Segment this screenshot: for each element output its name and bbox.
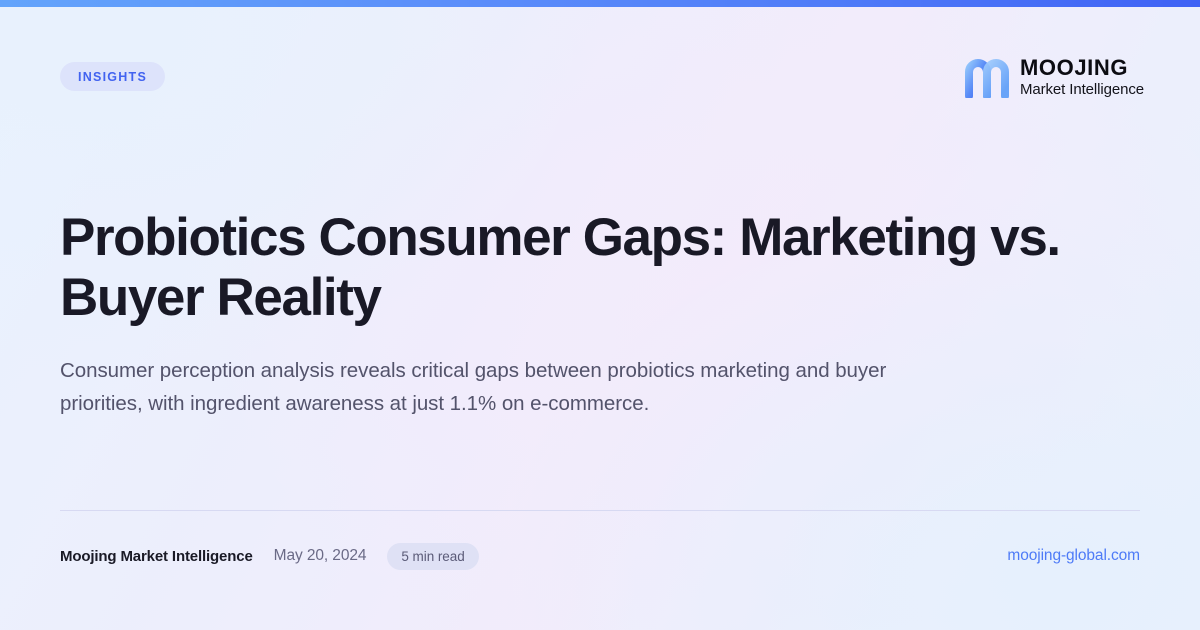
read-time-badge: 5 min read <box>387 543 478 570</box>
footer-divider <box>60 510 1140 511</box>
footer-meta-group: Moojing Market Intelligence May 20, 2024… <box>60 543 479 570</box>
brand-tagline: Market Intelligence <box>1020 81 1144 98</box>
card-footer: Moojing Market Intelligence May 20, 2024… <box>60 540 1140 572</box>
moojing-m-logo-icon <box>965 56 1009 98</box>
page-title: Probiotics Consumer Gaps: Marketing vs. … <box>60 208 1140 328</box>
category-badge[interactable]: INSIGHTS <box>60 62 165 91</box>
brand-lockup[interactable]: MOOJING Market Intelligence <box>965 55 1144 98</box>
brand-text-block: MOOJING Market Intelligence <box>1020 55 1144 98</box>
top-accent-bar <box>0 0 1200 7</box>
card-header: INSIGHTS MOOJING <box>60 55 1144 115</box>
brand-name: MOOJING <box>1020 56 1144 80</box>
footer-website-link[interactable]: moojing-global.com <box>1007 547 1140 565</box>
footer-author: Moojing Market Intelligence <box>60 548 253 565</box>
article-share-card: INSIGHTS MOOJING <box>0 0 1200 630</box>
page-subtitle: Consumer perception analysis reveals cri… <box>60 354 965 421</box>
footer-date: May 20, 2024 <box>274 547 367 565</box>
card-content: Probiotics Consumer Gaps: Marketing vs. … <box>60 208 1145 421</box>
